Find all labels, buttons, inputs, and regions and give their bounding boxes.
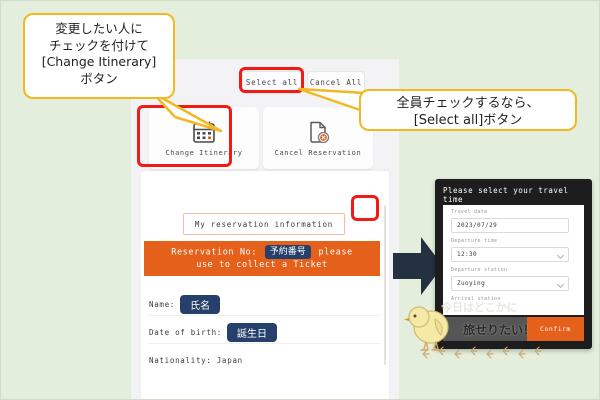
cancel-reservation-label: Cancel Reservation xyxy=(275,149,362,157)
popup-form: Travel date 2023/07/29 Departure time 12… xyxy=(443,205,584,315)
travel-date-input[interactable]: 2023/07/29 xyxy=(451,218,569,233)
departure-station-label: Departure station xyxy=(451,267,507,273)
dob-value-tag: 誕生日 xyxy=(227,323,277,342)
departure-station-value: Zuoying xyxy=(457,280,485,287)
departure-station-select[interactable]: Zuoying xyxy=(451,276,569,291)
travel-date-label: Travel date xyxy=(451,209,487,215)
action-card-group: Change Itinerary Cancel Reservation xyxy=(141,107,389,169)
callout2-line1: 全員チェックするなら、 xyxy=(361,95,575,112)
reservation-sheet: My reservation information Reservation N… xyxy=(141,171,389,400)
confirm-button[interactable]: Confirm xyxy=(527,317,584,341)
nationality-label: Nationality: Japan xyxy=(149,356,243,365)
screenshot-root: Select all Cancel All xyxy=(0,0,600,400)
departure-time-select[interactable]: 12:30 xyxy=(451,247,569,262)
change-itinerary-button[interactable]: Change Itinerary xyxy=(149,107,259,169)
chevron-down-icon xyxy=(557,252,564,259)
callout2-line2: [Select all]ボタン xyxy=(361,112,575,129)
reservation-number-banner: Reservation No: 予約番号 please use to colle… xyxy=(144,241,380,276)
cancel-reservation-button[interactable]: Cancel Reservation xyxy=(263,107,373,169)
banner-line2: use to collect a Ticket xyxy=(196,260,328,270)
popup-footer: Confirm xyxy=(443,317,584,341)
calendar-icon xyxy=(191,119,217,145)
sheet-scrollbar[interactable] xyxy=(384,205,386,365)
departure-time-label: Departure time xyxy=(451,238,497,244)
footprint-trail-icon xyxy=(419,345,549,359)
callout1-line3: [Change Itinerary] xyxy=(25,54,173,71)
select-all-callout: 全員チェックするなら、 [Select all]ボタン xyxy=(359,89,577,131)
name-label: Name: xyxy=(149,300,175,309)
name-value-tag: 氏名 xyxy=(180,295,220,314)
cancel-all-button[interactable]: Cancel All xyxy=(307,71,365,93)
reservation-info-title: My reservation information xyxy=(183,213,345,235)
change-itinerary-callout: 変更したい人に チェックを付けて [Change Itinerary] ボタン xyxy=(23,13,175,99)
field-row-date-of-birth: Date of birth: 誕生日 xyxy=(149,321,381,344)
callout1-line1: 変更したい人に xyxy=(25,21,173,38)
reservation-number-tag: 予約番号 xyxy=(265,245,311,259)
field-row-nationality: Nationality: Japan xyxy=(149,349,381,371)
callout1-line2: チェックを付けて xyxy=(25,38,173,55)
field-row-name: Name: 氏名 xyxy=(149,293,381,316)
document-cancel-icon xyxy=(305,119,331,145)
change-itinerary-label: Change Itinerary xyxy=(165,149,242,157)
select-all-button[interactable]: Select all xyxy=(242,71,302,93)
dob-label: Date of birth: xyxy=(149,328,222,337)
chevron-down-icon xyxy=(557,281,564,288)
banner-suffix: please xyxy=(318,248,352,258)
departure-time-value: 12:30 xyxy=(457,251,477,258)
banner-prefix: Reservation No: xyxy=(171,248,257,258)
popup-header: Please select your travel time xyxy=(443,185,584,205)
callout1-line4: ボタン xyxy=(25,71,173,88)
